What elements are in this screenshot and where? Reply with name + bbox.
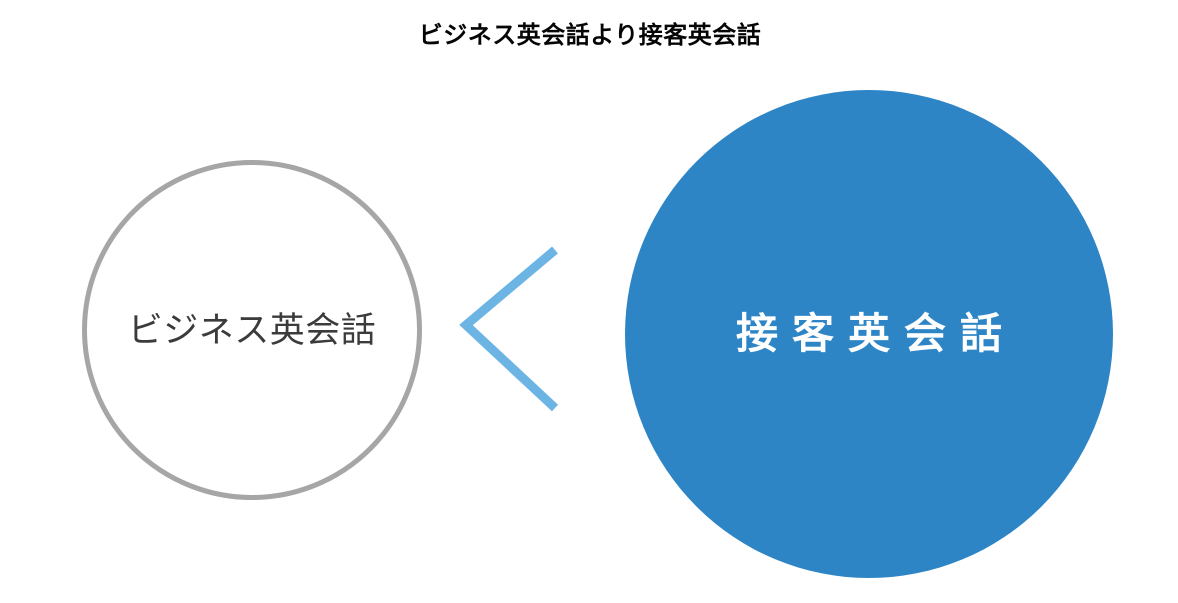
less-than-chevron-icon — [455, 238, 570, 418]
comparison-left-circle: ビジネス英会話 — [82, 160, 422, 500]
page-title-text: ビジネス英会話より接客英会話 — [419, 20, 762, 52]
page-title: ビジネス英会話より接客英会話 — [0, 20, 1178, 52]
diagram-canvas: ビジネス英会話より接客英会話 ビジネス英会話 接客英会話 — [0, 0, 1178, 603]
comparison-right-circle: 接客英会話 — [625, 90, 1113, 578]
comparison-right-label: 接客英会話 — [722, 313, 1016, 355]
comparison-left-label: ビジネス英会話 — [128, 313, 377, 348]
